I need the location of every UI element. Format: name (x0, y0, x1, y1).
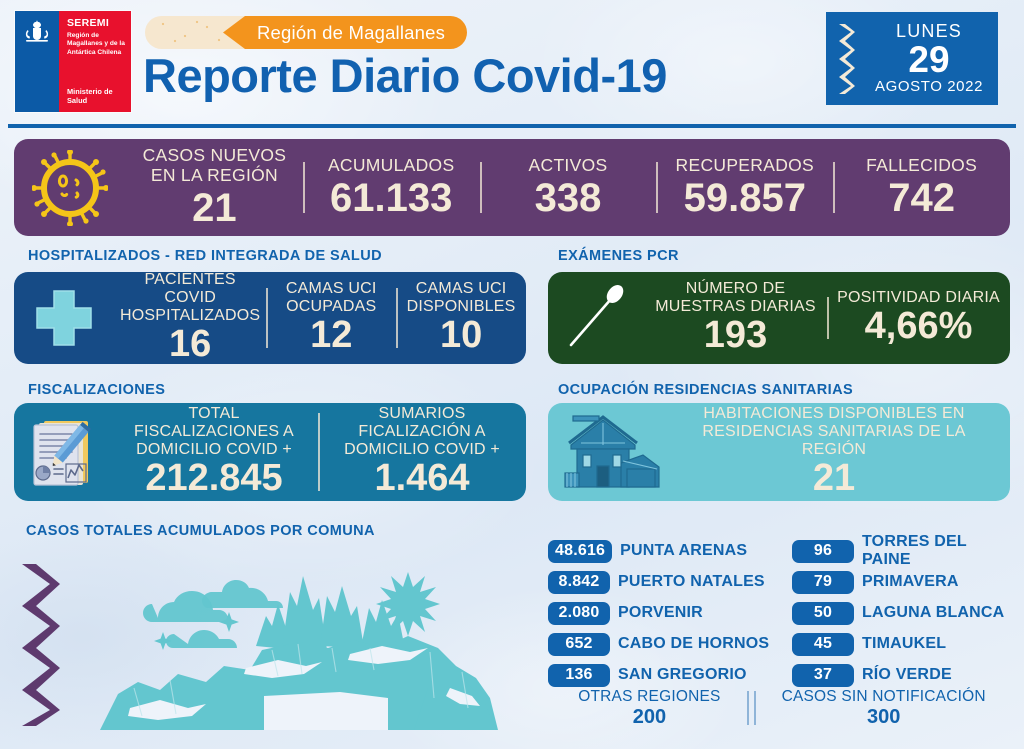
cell-label: PACIENTES COVID HOSPITALIZADOS (120, 271, 260, 326)
cell-value: 16 (120, 325, 260, 365)
pcr-heading: EXÁMENES PCR (558, 248, 679, 264)
summary-cell-value: 338 (484, 177, 653, 219)
summary-cell-label: CASOS NUEVOS EN LA REGIÓN (130, 146, 299, 185)
region-tag-label: Región de Magallanes (223, 16, 467, 49)
seremi-logo: SEREMI Región de Magallanes y de la Antá… (14, 10, 132, 113)
pcr-swab-icon (559, 281, 633, 355)
list-item: 79 PRIMAVERA (792, 569, 1016, 595)
summary-cell: CASOS NUEVOS EN LA REGIÓN 21 (126, 146, 303, 228)
pcr-panel: NÚMERO DE MUESTRAS DIARIAS 193 POSITIVID… (548, 272, 1010, 364)
list-item: 45 TIMAUKEL (792, 631, 1016, 657)
list-item: 2.080 PORVENIR (548, 600, 792, 626)
covid-report-infographic: SEREMI Región de Magallanes y de la Antá… (0, 0, 1024, 749)
logo-blue-band (15, 11, 59, 112)
comuna-count-badge: 8.842 (548, 571, 610, 594)
residencias-cell: HABITACIONES DISPONIBLES EN RESIDENCIAS … (678, 405, 1010, 500)
zigzag-icon (835, 22, 857, 96)
summary-cell-value: 61.133 (307, 177, 476, 219)
comuna-name: TORRES DEL PAINE (862, 533, 1016, 569)
date-day-number: 29 (866, 41, 992, 79)
hospitalizados-cell: CAMAS UCI DISPONIBLES 10 (396, 280, 526, 356)
total-otras-regiones: OTRAS REGIONES 200 (578, 688, 720, 728)
comuna-name: PUERTO NATALES (618, 573, 765, 591)
comuna-name: LAGUNA BLANCA (862, 604, 1004, 622)
comuna-name: CABO DE HORNOS (618, 635, 769, 653)
report-header: SEREMI Región de Magallanes y de la Antá… (0, 0, 1024, 120)
list-item: 48.616 PUNTA ARENAS (548, 538, 792, 564)
summary-cell-label: ACUMULADOS (307, 156, 476, 176)
total-value: 200 (578, 706, 720, 728)
comunas-list: 48.616 PUNTA ARENAS 96 TORRES DEL PAINE … (548, 538, 1016, 688)
comuna-count-badge: 136 (548, 664, 610, 687)
house-icon (561, 411, 665, 493)
cell-value: 1.464 (324, 459, 520, 499)
date-zigzag-icon (826, 22, 866, 96)
pcr-swab-icon-cell (548, 281, 644, 355)
summary-cell-label: ACTIVOS (484, 156, 653, 176)
comuna-count-badge: 96 (792, 540, 854, 563)
hospital-cross-icon-cell (14, 287, 114, 349)
cell-value: 4,66% (833, 307, 1004, 347)
summary-cell-value: 742 (837, 177, 1006, 219)
region-tag: Región de Magallanes (145, 16, 467, 49)
hospital-cross-icon (33, 287, 95, 349)
cell-label: CAMAS UCI OCUPADAS (272, 280, 390, 316)
torres-del-paine-icon (10, 548, 530, 738)
logo-ministry-text: Ministerio de Salud (67, 87, 125, 106)
date-month-year: AGOSTO 2022 (866, 79, 992, 96)
pcr-cell: POSITIVIDAD DIARIA 4,66% (827, 289, 1010, 347)
summary-bar: CASOS NUEVOS EN LA REGIÓN 21 ACUMULADOS … (14, 139, 1010, 236)
clipboard-pencil-icon (26, 416, 98, 488)
comuna-name: PUNTA ARENAS (620, 542, 747, 560)
summary-cell-value: 59.857 (660, 177, 829, 219)
chile-coat-of-arms-icon (22, 19, 52, 45)
cell-value: 10 (402, 316, 520, 356)
total-casos-sin-notificacion: CASOS SIN NOTIFICACIÓN 300 (782, 688, 986, 728)
list-item: 96 TORRES DEL PAINE (792, 538, 1016, 564)
logo-red-band: SEREMI Región de Magallanes y de la Antá… (59, 11, 131, 112)
cell-value: 193 (650, 316, 821, 356)
cell-label: HABITACIONES DISPONIBLES EN RESIDENCIAS … (684, 405, 984, 460)
summary-cell-label: FALLECIDOS (837, 156, 1006, 176)
date-box: LUNES 29 AGOSTO 2022 (826, 12, 998, 105)
residencias-panel: HABITACIONES DISPONIBLES EN RESIDENCIAS … (548, 403, 1010, 501)
total-label: CASOS SIN NOTIFICACIÓN (782, 688, 986, 706)
virus-icon (32, 150, 108, 226)
list-item: 652 CABO DE HORNOS (548, 631, 792, 657)
fiscalizaciones-cell: SUMARIOS FICALIZACIÓN A DOMICILIO COVID … (318, 405, 526, 500)
date-text-group: LUNES 29 AGOSTO 2022 (866, 22, 998, 95)
hospitalizados-cell: CAMAS UCI OCUPADAS 12 (266, 280, 396, 356)
cell-value: 212.845 (116, 459, 312, 499)
header-divider (8, 124, 1016, 128)
logo-seremi-text: SEREMI (67, 18, 125, 30)
comuna-count-badge: 652 (548, 633, 610, 656)
total-label: OTRAS REGIONES (578, 688, 720, 706)
list-item: 8.842 PUERTO NATALES (548, 569, 792, 595)
pcr-cell: NÚMERO DE MUESTRAS DIARIAS 193 (644, 280, 827, 356)
summary-cell-value: 21 (130, 187, 299, 229)
comuna-name: RÍO VERDE (862, 666, 952, 684)
comuna-count-badge: 45 (792, 633, 854, 656)
page-title: Reporte Diario Covid-19 (143, 52, 667, 99)
total-value: 300 (782, 706, 986, 728)
list-item: 136 SAN GREGORIO (548, 662, 792, 688)
summary-cell: FALLECIDOS 742 (833, 156, 1010, 219)
summary-cell: ACUMULADOS 61.133 (303, 156, 480, 219)
hospitalizados-heading: HOSPITALIZADOS - RED INTEGRADA DE SALUD (28, 248, 382, 264)
house-icon-cell (548, 411, 678, 493)
cell-label: CAMAS UCI DISPONIBLES (402, 280, 520, 316)
list-item: 50 LAGUNA BLANCA (792, 600, 1016, 626)
virus-icon-cell (14, 150, 126, 226)
comuna-name: SAN GREGORIO (618, 666, 747, 684)
fiscalizaciones-panel: TOTAL FISCALIZACIONES A DOMICILIO COVID … (14, 403, 526, 501)
summary-cell-label: RECUPERADOS (660, 156, 829, 176)
comuna-count-badge: 37 (792, 664, 854, 687)
clipboard-pencil-icon-cell (14, 416, 110, 488)
cell-label: SUMARIOS FICALIZACIÓN A DOMICILIO COVID … (324, 405, 520, 460)
hospitalizados-panel: PACIENTES COVID HOSPITALIZADOS 16 CAMAS … (14, 272, 526, 364)
comuna-count-badge: 50 (792, 602, 854, 625)
comuna-count-badge: 48.616 (548, 540, 612, 563)
comuna-count-badge: 79 (792, 571, 854, 594)
list-item: 37 RÍO VERDE (792, 662, 1016, 688)
cell-label: TOTAL FISCALIZACIONES A DOMICILIO COVID … (116, 405, 312, 460)
cell-label: NÚMERO DE MUESTRAS DIARIAS (650, 280, 821, 316)
fiscalizaciones-heading: FISCALIZACIONES (28, 382, 165, 398)
date-day-name: LUNES (866, 22, 992, 41)
comunas-heading: CASOS TOTALES ACUMULADOS POR COMUNA (26, 523, 375, 539)
cell-value: 12 (272, 316, 390, 356)
residencias-heading: OCUPACIÓN RESIDENCIAS SANITARIAS (558, 382, 853, 398)
fiscalizaciones-cell: TOTAL FISCALIZACIONES A DOMICILIO COVID … (110, 405, 318, 500)
logo-subtitle-text: Región de Magallanes y de la Antártica C… (67, 32, 125, 59)
comuna-name: PRIMAVERA (862, 573, 959, 591)
cell-value: 21 (684, 459, 984, 499)
hospitalizados-cell: PACIENTES COVID HOSPITALIZADOS 16 (114, 271, 266, 366)
comuna-name: PORVENIR (618, 604, 703, 622)
totals-separator (747, 691, 756, 725)
comuna-name: TIMAUKEL (862, 635, 946, 653)
totals-row: OTRAS REGIONES 200 CASOS SIN NOTIFICACIÓ… (548, 688, 1016, 728)
summary-cell: RECUPERADOS 59.857 (656, 156, 833, 219)
comuna-count-badge: 2.080 (548, 602, 610, 625)
summary-cell: ACTIVOS 338 (480, 156, 657, 219)
